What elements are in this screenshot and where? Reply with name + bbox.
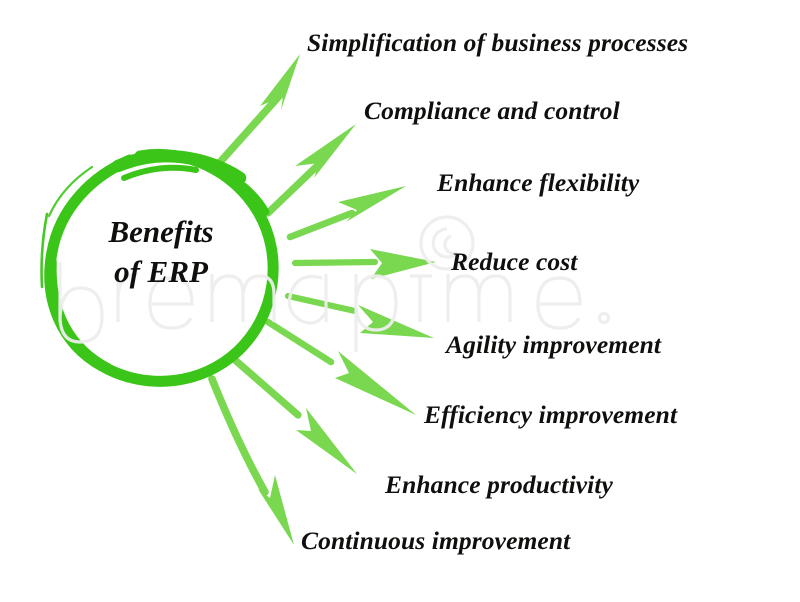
center-line-1: Benefits xyxy=(46,212,276,252)
branch-label-8: Continuous improvement xyxy=(301,528,570,554)
arrow-to-enhance-flexibility xyxy=(290,186,406,237)
arrow-to-agility-improvement xyxy=(288,296,434,338)
branch-label-5: Agility improvement xyxy=(446,332,661,358)
diagram-graphics xyxy=(0,0,800,602)
center-line-2: of ERP xyxy=(46,252,276,292)
arrow-to-compliance-and-control xyxy=(268,124,356,213)
arrow-to-reduce-cost xyxy=(295,249,436,279)
diagram-canvas: Benefits of ERP Simplification of busine… xyxy=(0,0,800,602)
arrow-to-efficiency-improvement xyxy=(268,322,416,415)
branch-label-2: Compliance and control xyxy=(364,98,620,124)
branch-label-1: Simplification of business processes xyxy=(307,30,688,56)
branch-label-7: Enhance productivity xyxy=(385,472,613,498)
branch-label-6: Efficiency improvement xyxy=(424,402,677,428)
branch-label-3: Enhance flexibility xyxy=(437,170,639,196)
arrow-to-simplification-of-business-processes xyxy=(213,54,300,170)
branch-label-4: Reduce cost xyxy=(451,249,577,275)
center-node-text: Benefits of ERP xyxy=(46,212,276,291)
